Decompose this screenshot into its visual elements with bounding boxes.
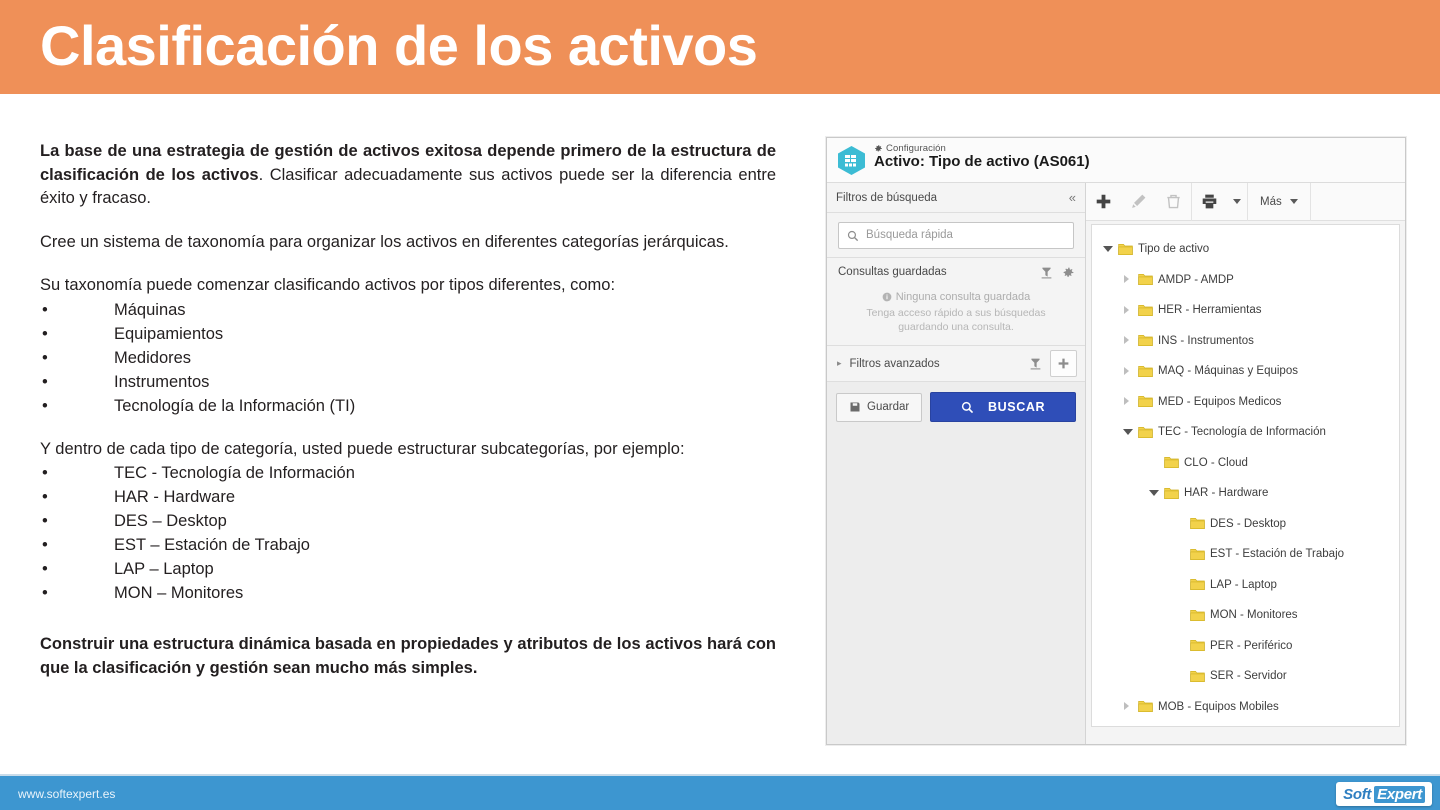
list-item: •MON – Monitores <box>40 581 776 605</box>
chevron-right-icon <box>1124 367 1129 375</box>
folder-icon <box>1138 700 1153 713</box>
tree-toggle-spacer <box>1174 518 1185 529</box>
tree-node-label: MON - Monitores <box>1210 609 1298 621</box>
chevron-right-icon: ▸ <box>837 358 842 369</box>
folder-icon <box>1138 365 1153 378</box>
tree-node[interactable]: TEC - Tecnología de Información <box>1092 417 1399 448</box>
folder-icon <box>1118 243 1133 256</box>
chevron-right-icon <box>1124 275 1129 283</box>
tree-node-label: MOB - Equipos Mobiles <box>1158 701 1279 713</box>
saved-queries-actions <box>1040 266 1075 279</box>
tree-node-label: INS - Instrumentos <box>1158 335 1254 347</box>
list-item-label: Medidores <box>114 349 191 367</box>
add-button[interactable] <box>1086 183 1121 221</box>
info-icon <box>882 292 892 302</box>
tree-node[interactable]: HAR - Hardware <box>1092 478 1399 509</box>
tree-node[interactable]: MOB - Equipos Mobiles <box>1092 692 1399 723</box>
tree-node[interactable]: INS - Instrumentos <box>1092 326 1399 357</box>
tree-toggle-spacer <box>1174 549 1185 560</box>
app-title: Activo: Tipo de activo (AS061) <box>874 153 1090 170</box>
print-button-group <box>1192 183 1247 221</box>
tree-toggle-spacer <box>1174 640 1185 651</box>
folder-icon <box>1190 670 1205 683</box>
bullet-glyph: • <box>42 533 48 557</box>
folder-icon <box>1164 487 1179 500</box>
saved-queries-empty-title: Ninguna consulta guardada <box>896 291 1031 303</box>
save-button[interactable]: Guardar <box>836 393 922 422</box>
chevron-right-icon <box>1124 702 1129 710</box>
tree-toggle-collapsed-icon[interactable] <box>1122 305 1133 316</box>
list-item-label: LAP – Laptop <box>114 560 214 578</box>
folder-icon <box>1138 395 1153 408</box>
gear-icon[interactable] <box>1062 266 1075 279</box>
tree-node-label: PER - Periférico <box>1210 640 1292 652</box>
list-item: •Tecnología de la Información (TI) <box>40 394 776 418</box>
paragraph-5-bold: Construir una estructura dinámica basada… <box>40 635 776 677</box>
bullet-glyph: • <box>42 298 48 322</box>
folder-icon <box>1190 609 1205 622</box>
folder-icon <box>1190 517 1205 530</box>
tree-toggle-expanded-icon[interactable] <box>1102 244 1113 255</box>
bullet-glyph: • <box>42 509 48 533</box>
list-item-label: Instrumentos <box>114 373 209 391</box>
tree-toolbar: Más <box>1086 183 1405 221</box>
folder-icon <box>1164 456 1179 469</box>
more-menu-button[interactable]: Más <box>1248 183 1310 221</box>
chevron-right-icon <box>1124 306 1129 314</box>
saved-queries-empty-title-row: Ninguna consulta guardada <box>841 291 1071 303</box>
tree-toggle-spacer <box>1174 579 1185 590</box>
paragraph-1: La base de una estrategia de gestión de … <box>40 140 776 211</box>
tree-node[interactable]: LAP - Laptop <box>1092 570 1399 601</box>
saved-queries-section: Consultas guardadas <box>827 258 1085 346</box>
saved-queries-header: Consultas guardadas <box>827 258 1085 286</box>
chevron-right-icon <box>1124 397 1129 405</box>
folder-icon <box>1190 548 1205 561</box>
tree-toggle-expanded-icon[interactable] <box>1148 488 1159 499</box>
tree-toggle-spacer <box>1174 671 1185 682</box>
folder-icon <box>1138 334 1153 347</box>
list-item-label: Tecnología de la Información (TI) <box>114 397 355 415</box>
tree-toggle-spacer <box>1174 610 1185 621</box>
bullet-glyph: • <box>42 581 48 605</box>
folder-icon <box>1138 304 1153 317</box>
folder-icon <box>1138 273 1153 286</box>
list-item: •EST – Estación de Trabajo <box>40 533 776 557</box>
app-header: Configuración Activo: Tipo de activo (AS… <box>827 138 1405 183</box>
page-title: Clasificación de los activos <box>40 10 757 82</box>
subcategory-list: •TEC - Tecnología de Información •HAR - … <box>40 461 776 605</box>
search-input[interactable]: Búsqueda rápida <box>838 222 1074 249</box>
footer-url[interactable]: www.softexpert.es <box>18 787 115 801</box>
chevron-down-icon <box>1233 199 1241 204</box>
saved-queries-empty-subtitle: Tenga acceso rápido a sus búsquedas guar… <box>841 306 1071 334</box>
tree-node[interactable]: MAQ - Máquinas y Equipos <box>1092 356 1399 387</box>
asset-hexagon-icon <box>836 145 867 176</box>
tree-node[interactable]: HER - Herramientas <box>1092 295 1399 326</box>
filters-panel-header: Filtros de búsqueda « <box>827 183 1085 213</box>
tree-node-label: EST - Estación de Trabajo <box>1210 548 1344 560</box>
list-item: •Máquinas <box>40 298 776 322</box>
tree-toggle-collapsed-icon[interactable] <box>1122 701 1133 712</box>
title-banner: Clasificación de los activos <box>0 0 1440 94</box>
toolbar-divider <box>1310 183 1311 221</box>
search-button[interactable]: BUSCAR <box>930 392 1076 422</box>
paragraph-4: Y dentro de cada tipo de categoría, uste… <box>40 438 776 462</box>
footer-bar: www.softexpert.es Soft Expert <box>0 774 1440 810</box>
bullet-glyph: • <box>42 557 48 581</box>
tree-node[interactable]: DES - Desktop <box>1092 509 1399 540</box>
search-input-placeholder: Búsqueda rápida <box>866 229 953 241</box>
list-item-label: Máquinas <box>114 301 186 319</box>
search-icon <box>847 229 859 241</box>
folder-icon <box>1190 639 1205 652</box>
tree-node[interactable]: MED - Equipos Medicos <box>1092 387 1399 418</box>
search-button-label: BUSCAR <box>988 400 1045 414</box>
tree-toggle-expanded-icon[interactable] <box>1122 427 1133 438</box>
chevron-down-icon <box>1290 199 1298 204</box>
list-item: •DES – Desktop <box>40 509 776 533</box>
list-item: •HAR - Hardware <box>40 485 776 509</box>
tree-node[interactable]: AMDP - AMDP <box>1092 265 1399 296</box>
app-body: Filtros de búsqueda « Búsqueda rápida Co… <box>827 183 1405 745</box>
tree-node-label: MAQ - Máquinas y Equipos <box>1158 365 1298 377</box>
list-item: •LAP – Laptop <box>40 557 776 581</box>
list-item: •TEC - Tecnología de Información <box>40 461 776 485</box>
saved-queries-empty-state: Ninguna consulta guardada Tenga acceso r… <box>827 286 1085 334</box>
list-item-label: HAR - Hardware <box>114 488 235 506</box>
tree-node[interactable]: EST - Estación de Trabajo <box>1092 539 1399 570</box>
advanced-filters-label: Filtros avanzados <box>850 358 1021 370</box>
tree-node-label: TEC - Tecnología de Información <box>1158 426 1326 438</box>
bullet-glyph: • <box>42 485 48 509</box>
list-item-label: MON – Monitores <box>114 584 243 602</box>
asset-type-tree: Tipo de activoAMDP - AMDPHER - Herramien… <box>1091 224 1400 727</box>
edit-button[interactable] <box>1121 183 1156 221</box>
app-screenshot: Configuración Activo: Tipo de activo (AS… <box>826 137 1406 745</box>
paragraph-5: Construir una estructura dinámica basada… <box>40 633 776 680</box>
chevron-right-icon <box>1124 336 1129 344</box>
list-item: •Medidores <box>40 346 776 370</box>
collapse-panel-icon[interactable]: « <box>1069 191 1076 204</box>
filter-icon[interactable] <box>1040 266 1053 279</box>
tree-node-label: SER - Servidor <box>1210 670 1287 682</box>
saved-queries-title: Consultas guardadas <box>838 266 947 278</box>
list-item-label: EST – Estación de Trabajo <box>114 536 310 554</box>
delete-button[interactable] <box>1156 183 1191 221</box>
tree-toggle-collapsed-icon[interactable] <box>1122 396 1133 407</box>
tree-node-label: LAP - Laptop <box>1210 579 1277 591</box>
print-dropdown-button[interactable] <box>1227 183 1247 221</box>
list-item-label: TEC - Tecnología de Información <box>114 464 355 482</box>
slide-root: Clasificación de los activos La base de … <box>0 0 1440 810</box>
advanced-filters-row[interactable]: ▸ Filtros avanzados <box>827 346 1085 382</box>
content-column: La base de una estrategia de gestión de … <box>40 140 776 700</box>
crud-button-group <box>1086 183 1191 221</box>
save-button-label: Guardar <box>867 401 909 413</box>
filter-actions-row: Guardar BUSCAR <box>827 382 1085 422</box>
quick-search-row: Búsqueda rápida <box>827 213 1085 258</box>
list-item-label: DES – Desktop <box>114 512 227 530</box>
more-menu-label: Más <box>1260 196 1282 208</box>
folder-icon <box>1190 578 1205 591</box>
bullet-glyph: • <box>42 370 48 394</box>
tree-node-label: HAR - Hardware <box>1184 487 1268 499</box>
bullet-glyph: • <box>42 461 48 485</box>
gear-icon <box>874 144 883 153</box>
paragraph-3: Su taxonomía puede comenzar clasificando… <box>40 274 776 298</box>
tree-node-label: AMDP - AMDP <box>1158 274 1234 286</box>
softexpert-logo: Soft Expert <box>1336 782 1432 806</box>
tree-toggle-collapsed-icon[interactable] <box>1122 274 1133 285</box>
print-button[interactable] <box>1192 183 1227 221</box>
tree-node[interactable]: CLO - Cloud <box>1092 448 1399 479</box>
tree-node-label: DES - Desktop <box>1210 518 1286 530</box>
list-item-label: Equipamientos <box>114 325 223 343</box>
tree-panel: Más Tipo de activoAMDP - AMDPHER - Herra… <box>1086 183 1405 745</box>
bullet-glyph: • <box>42 346 48 370</box>
tree-node-label: HER - Herramientas <box>1158 304 1262 316</box>
paragraph-2: Cree un sistema de taxonomía para organi… <box>40 231 776 255</box>
filters-panel-title: Filtros de búsqueda <box>836 192 937 204</box>
add-advanced-filter-button[interactable] <box>1050 350 1077 377</box>
tree-node[interactable]: PER - Periférico <box>1092 631 1399 662</box>
tree-node[interactable]: MON - Monitores <box>1092 600 1399 631</box>
filter-icon[interactable] <box>1029 357 1042 370</box>
folder-icon <box>1138 426 1153 439</box>
tree-node-label: CLO - Cloud <box>1184 457 1248 469</box>
tree-toggle-collapsed-icon[interactable] <box>1122 366 1133 377</box>
tree-toggle-collapsed-icon[interactable] <box>1122 335 1133 346</box>
tree-node-label: Tipo de activo <box>1138 243 1209 255</box>
tree-toggle-spacer <box>1148 457 1159 468</box>
list-item: •Instrumentos <box>40 370 776 394</box>
bullet-glyph: • <box>42 322 48 346</box>
search-filters-panel: Filtros de búsqueda « Búsqueda rápida Co… <box>827 183 1086 745</box>
tree-node-label: MED - Equipos Medicos <box>1158 396 1281 408</box>
logo-expert-text: Expert <box>1374 786 1425 803</box>
bullet-glyph: • <box>42 394 48 418</box>
logo-soft-text: Soft <box>1343 786 1371 803</box>
tree-node[interactable]: SER - Servidor <box>1092 661 1399 692</box>
tree-node[interactable]: Tipo de activo <box>1092 234 1399 265</box>
asset-type-list: •Máquinas •Equipamientos •Medidores •Ins… <box>40 298 776 418</box>
list-item: •Equipamientos <box>40 322 776 346</box>
